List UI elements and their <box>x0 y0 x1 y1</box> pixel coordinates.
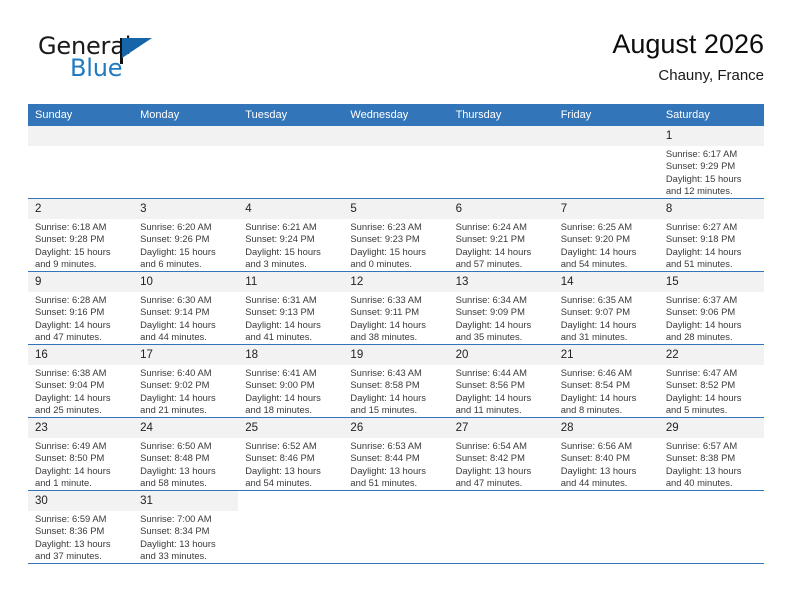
day-number: 26 <box>343 418 448 438</box>
day-number <box>554 126 659 146</box>
daylight-text-line2: and 57 minutes. <box>456 258 549 270</box>
daylight-text-line2: and 15 minutes. <box>350 404 443 416</box>
daylight-text-line2: and 6 minutes. <box>140 258 233 270</box>
day-number: 13 <box>449 272 554 292</box>
sunrise-text: Sunrise: 6:30 AM <box>140 294 233 306</box>
daylight-text-line2: and 41 minutes. <box>245 331 338 343</box>
calendar-cell-empty <box>133 126 238 199</box>
daylight-text-line2: and 0 minutes. <box>350 258 443 270</box>
daylight-text-line2: and 18 minutes. <box>245 404 338 416</box>
calendar-day-cell[interactable]: 20Sunrise: 6:44 AMSunset: 8:56 PMDayligh… <box>449 345 554 418</box>
weekday-header-sunday: Sunday <box>28 104 133 126</box>
page-title: August 2026 <box>612 28 764 60</box>
calendar-day-cell[interactable]: 13Sunrise: 6:34 AMSunset: 9:09 PMDayligh… <box>449 272 554 345</box>
sunrise-text: Sunrise: 6:59 AM <box>35 513 128 525</box>
day-details: Sunrise: 6:24 AMSunset: 9:21 PMDaylight:… <box>449 219 554 270</box>
logo-text-blue: Blue <box>70 54 122 82</box>
day-details: Sunrise: 6:27 AMSunset: 9:18 PMDaylight:… <box>659 219 764 270</box>
sunset-text: Sunset: 8:44 PM <box>350 452 443 464</box>
sunrise-text: Sunrise: 6:25 AM <box>561 221 654 233</box>
sunrise-text: Sunrise: 6:17 AM <box>666 148 759 160</box>
sunrise-text: Sunrise: 6:41 AM <box>245 367 338 379</box>
day-number: 9 <box>28 272 133 292</box>
calendar-cell-empty <box>659 491 764 564</box>
page-header: General Blue August 2026 Chauny, France <box>28 28 764 98</box>
day-number: 3 <box>133 199 238 219</box>
sunrise-text: Sunrise: 6:57 AM <box>666 440 759 452</box>
day-number: 21 <box>554 345 659 365</box>
day-details: Sunrise: 6:54 AMSunset: 8:42 PMDaylight:… <box>449 438 554 489</box>
sunset-text: Sunset: 9:09 PM <box>456 306 549 318</box>
calendar-day-cell[interactable]: 1Sunrise: 6:17 AMSunset: 9:29 PMDaylight… <box>659 126 764 199</box>
weekday-header-monday: Monday <box>133 104 238 126</box>
day-details: Sunrise: 6:38 AMSunset: 9:04 PMDaylight:… <box>28 365 133 416</box>
daylight-text-line1: Daylight: 14 hours <box>561 246 654 258</box>
day-number: 1 <box>659 126 764 146</box>
day-details: Sunrise: 6:31 AMSunset: 9:13 PMDaylight:… <box>238 292 343 343</box>
sunrise-text: Sunrise: 6:54 AM <box>456 440 549 452</box>
calendar-day-cell[interactable]: 14Sunrise: 6:35 AMSunset: 9:07 PMDayligh… <box>554 272 659 345</box>
daylight-text-line1: Daylight: 13 hours <box>140 538 233 550</box>
day-details: Sunrise: 6:43 AMSunset: 8:58 PMDaylight:… <box>343 365 448 416</box>
daylight-text-line1: Daylight: 14 hours <box>35 465 128 477</box>
daylight-text-line2: and 54 minutes. <box>561 258 654 270</box>
day-number: 10 <box>133 272 238 292</box>
calendar-day-cell[interactable]: 19Sunrise: 6:43 AMSunset: 8:58 PMDayligh… <box>343 345 448 418</box>
sunset-text: Sunset: 8:52 PM <box>666 379 759 391</box>
calendar-day-cell[interactable]: 21Sunrise: 6:46 AMSunset: 8:54 PMDayligh… <box>554 345 659 418</box>
daylight-text-line2: and 37 minutes. <box>35 550 128 562</box>
calendar-day-cell[interactable]: 25Sunrise: 6:52 AMSunset: 8:46 PMDayligh… <box>238 418 343 491</box>
daylight-text-line1: Daylight: 15 hours <box>245 246 338 258</box>
daylight-text-line2: and 51 minutes. <box>666 258 759 270</box>
calendar-day-cell[interactable]: 18Sunrise: 6:41 AMSunset: 9:00 PMDayligh… <box>238 345 343 418</box>
calendar-day-cell[interactable]: 4Sunrise: 6:21 AMSunset: 9:24 PMDaylight… <box>238 199 343 272</box>
day-details: Sunrise: 6:33 AMSunset: 9:11 PMDaylight:… <box>343 292 448 343</box>
daylight-text-line2: and 51 minutes. <box>350 477 443 489</box>
daylight-text-line1: Daylight: 15 hours <box>35 246 128 258</box>
sunrise-text: Sunrise: 6:31 AM <box>245 294 338 306</box>
calendar-day-cell[interactable]: 29Sunrise: 6:57 AMSunset: 8:38 PMDayligh… <box>659 418 764 491</box>
calendar-day-cell[interactable]: 30Sunrise: 6:59 AMSunset: 8:36 PMDayligh… <box>28 491 133 564</box>
sunrise-text: Sunrise: 6:40 AM <box>140 367 233 379</box>
sunset-text: Sunset: 8:54 PM <box>561 379 654 391</box>
sunset-text: Sunset: 8:34 PM <box>140 525 233 537</box>
daylight-text-line1: Daylight: 13 hours <box>666 465 759 477</box>
day-details: Sunrise: 6:23 AMSunset: 9:23 PMDaylight:… <box>343 219 448 270</box>
sunset-text: Sunset: 8:58 PM <box>350 379 443 391</box>
daylight-text-line1: Daylight: 14 hours <box>456 392 549 404</box>
day-number: 19 <box>343 345 448 365</box>
weekday-header-friday: Friday <box>554 104 659 126</box>
sunset-text: Sunset: 9:18 PM <box>666 233 759 245</box>
sunrise-text: Sunrise: 6:20 AM <box>140 221 233 233</box>
calendar-day-cell[interactable]: 27Sunrise: 6:54 AMSunset: 8:42 PMDayligh… <box>449 418 554 491</box>
daylight-text-line1: Daylight: 14 hours <box>666 392 759 404</box>
daylight-text-line1: Daylight: 13 hours <box>561 465 654 477</box>
calendar-cell-empty <box>554 126 659 199</box>
day-number: 2 <box>28 199 133 219</box>
daylight-text-line1: Daylight: 14 hours <box>350 319 443 331</box>
calendar-week-row: 16Sunrise: 6:38 AMSunset: 9:04 PMDayligh… <box>28 345 764 418</box>
sunset-text: Sunset: 9:04 PM <box>35 379 128 391</box>
sunrise-text: Sunrise: 6:44 AM <box>456 367 549 379</box>
calendar-day-cell[interactable]: 12Sunrise: 6:33 AMSunset: 9:11 PMDayligh… <box>343 272 448 345</box>
day-number: 27 <box>449 418 554 438</box>
sunset-text: Sunset: 9:21 PM <box>456 233 549 245</box>
sunset-text: Sunset: 8:42 PM <box>456 452 549 464</box>
daylight-text-line2: and 8 minutes. <box>561 404 654 416</box>
sunrise-text: Sunrise: 6:56 AM <box>561 440 654 452</box>
day-details: Sunrise: 6:57 AMSunset: 8:38 PMDaylight:… <box>659 438 764 489</box>
daylight-text-line2: and 9 minutes. <box>35 258 128 270</box>
calendar-day-cell[interactable]: 26Sunrise: 6:53 AMSunset: 8:44 PMDayligh… <box>343 418 448 491</box>
day-number: 6 <box>449 199 554 219</box>
calendar-cell-empty <box>238 491 343 564</box>
calendar-body: 1Sunrise: 6:17 AMSunset: 9:29 PMDaylight… <box>28 126 764 564</box>
daylight-text-line2: and 38 minutes. <box>350 331 443 343</box>
sunset-text: Sunset: 9:28 PM <box>35 233 128 245</box>
sunset-text: Sunset: 9:06 PM <box>666 306 759 318</box>
calendar-cell-empty <box>343 491 448 564</box>
sunrise-text: Sunrise: 6:38 AM <box>35 367 128 379</box>
calendar-day-cell[interactable]: 6Sunrise: 6:24 AMSunset: 9:21 PMDaylight… <box>449 199 554 272</box>
daylight-text-line1: Daylight: 14 hours <box>35 392 128 404</box>
daylight-text-line1: Daylight: 15 hours <box>666 173 759 185</box>
daylight-text-line2: and 12 minutes. <box>666 185 759 197</box>
daylight-text-line2: and 28 minutes. <box>666 331 759 343</box>
sunset-text: Sunset: 9:29 PM <box>666 160 759 172</box>
daylight-text-line2: and 11 minutes. <box>456 404 549 416</box>
calendar-header-row: Sunday Monday Tuesday Wednesday Thursday… <box>28 104 764 126</box>
daylight-text-line2: and 54 minutes. <box>245 477 338 489</box>
day-number: 14 <box>554 272 659 292</box>
daylight-text-line2: and 44 minutes. <box>140 331 233 343</box>
sunrise-text: Sunrise: 6:47 AM <box>666 367 759 379</box>
sunrise-text: Sunrise: 6:24 AM <box>456 221 549 233</box>
day-number: 30 <box>28 491 133 511</box>
weekday-header-wednesday: Wednesday <box>343 104 448 126</box>
calendar-day-cell[interactable]: 8Sunrise: 6:27 AMSunset: 9:18 PMDaylight… <box>659 199 764 272</box>
sunrise-text: Sunrise: 6:34 AM <box>456 294 549 306</box>
day-details: Sunrise: 6:34 AMSunset: 9:09 PMDaylight:… <box>449 292 554 343</box>
day-number: 31 <box>133 491 238 511</box>
day-number: 17 <box>133 345 238 365</box>
sunrise-text: Sunrise: 6:53 AM <box>350 440 443 452</box>
sunrise-text: Sunrise: 6:50 AM <box>140 440 233 452</box>
calendar-week-row: 1Sunrise: 6:17 AMSunset: 9:29 PMDaylight… <box>28 126 764 199</box>
daylight-text-line2: and 35 minutes. <box>456 331 549 343</box>
calendar-page: General Blue August 2026 Chauny, France … <box>0 0 792 612</box>
daylight-text-line1: Daylight: 14 hours <box>35 319 128 331</box>
sunrise-text: Sunrise: 6:43 AM <box>350 367 443 379</box>
calendar-day-cell[interactable]: 24Sunrise: 6:50 AMSunset: 8:48 PMDayligh… <box>133 418 238 491</box>
day-number <box>343 126 448 146</box>
daylight-text-line2: and 5 minutes. <box>666 404 759 416</box>
daylight-text-line1: Daylight: 14 hours <box>140 319 233 331</box>
sunset-text: Sunset: 9:13 PM <box>245 306 338 318</box>
day-number <box>449 126 554 146</box>
day-number: 4 <box>238 199 343 219</box>
daylight-text-line2: and 31 minutes. <box>561 331 654 343</box>
weekday-header-tuesday: Tuesday <box>238 104 343 126</box>
day-details: Sunrise: 6:59 AMSunset: 8:36 PMDaylight:… <box>28 511 133 562</box>
calendar-cell-empty <box>28 126 133 199</box>
daylight-text-line2: and 47 minutes. <box>456 477 549 489</box>
sunset-text: Sunset: 9:14 PM <box>140 306 233 318</box>
sunset-text: Sunset: 8:36 PM <box>35 525 128 537</box>
sunset-text: Sunset: 9:26 PM <box>140 233 233 245</box>
daylight-text-line1: Daylight: 13 hours <box>140 465 233 477</box>
day-number: 15 <box>659 272 764 292</box>
daylight-text-line2: and 58 minutes. <box>140 477 233 489</box>
title-block: August 2026 Chauny, France <box>612 28 764 86</box>
sunrise-text: Sunrise: 6:37 AM <box>666 294 759 306</box>
daylight-text-line2: and 47 minutes. <box>35 331 128 343</box>
day-number: 28 <box>554 418 659 438</box>
logo-flag-icon <box>122 38 152 58</box>
day-details: Sunrise: 7:00 AMSunset: 8:34 PMDaylight:… <box>133 511 238 562</box>
day-number: 22 <box>659 345 764 365</box>
daylight-text-line1: Daylight: 13 hours <box>245 465 338 477</box>
daylight-text-line1: Daylight: 13 hours <box>350 465 443 477</box>
day-number: 29 <box>659 418 764 438</box>
daylight-text-line1: Daylight: 13 hours <box>35 538 128 550</box>
calendar-day-cell[interactable]: 22Sunrise: 6:47 AMSunset: 8:52 PMDayligh… <box>659 345 764 418</box>
daylight-text-line2: and 3 minutes. <box>245 258 338 270</box>
daylight-text-line1: Daylight: 14 hours <box>456 319 549 331</box>
day-details: Sunrise: 6:25 AMSunset: 9:20 PMDaylight:… <box>554 219 659 270</box>
calendar-grid-wrapper: Sunday Monday Tuesday Wednesday Thursday… <box>28 104 764 564</box>
page-subtitle-location: Chauny, France <box>612 66 764 86</box>
sunrise-text: Sunrise: 6:46 AM <box>561 367 654 379</box>
calendar-day-cell[interactable]: 15Sunrise: 6:37 AMSunset: 9:06 PMDayligh… <box>659 272 764 345</box>
sunset-text: Sunset: 8:48 PM <box>140 452 233 464</box>
daylight-text-line2: and 44 minutes. <box>561 477 654 489</box>
day-number <box>28 126 133 146</box>
daylight-text-line2: and 1 minute. <box>35 477 128 489</box>
day-details: Sunrise: 6:37 AMSunset: 9:06 PMDaylight:… <box>659 292 764 343</box>
day-number: 5 <box>343 199 448 219</box>
day-details: Sunrise: 6:47 AMSunset: 8:52 PMDaylight:… <box>659 365 764 416</box>
calendar-cell-empty <box>449 491 554 564</box>
sunrise-text: Sunrise: 6:23 AM <box>350 221 443 233</box>
calendar-day-cell[interactable]: 3Sunrise: 6:20 AMSunset: 9:26 PMDaylight… <box>133 199 238 272</box>
sunrise-text: Sunrise: 7:00 AM <box>140 513 233 525</box>
calendar-day-cell[interactable]: 28Sunrise: 6:56 AMSunset: 8:40 PMDayligh… <box>554 418 659 491</box>
day-number: 24 <box>133 418 238 438</box>
sunrise-text: Sunrise: 6:35 AM <box>561 294 654 306</box>
weekday-header-thursday: Thursday <box>449 104 554 126</box>
day-details: Sunrise: 6:18 AMSunset: 9:28 PMDaylight:… <box>28 219 133 270</box>
day-details: Sunrise: 6:20 AMSunset: 9:26 PMDaylight:… <box>133 219 238 270</box>
daylight-text-line1: Daylight: 15 hours <box>140 246 233 258</box>
calendar-week-row: 23Sunrise: 6:49 AMSunset: 8:50 PMDayligh… <box>28 418 764 491</box>
calendar-week-row: 9Sunrise: 6:28 AMSunset: 9:16 PMDaylight… <box>28 272 764 345</box>
sunset-text: Sunset: 9:11 PM <box>350 306 443 318</box>
daylight-text-line2: and 25 minutes. <box>35 404 128 416</box>
daylight-text-line2: and 33 minutes. <box>140 550 233 562</box>
daylight-text-line1: Daylight: 14 hours <box>666 319 759 331</box>
calendar-day-cell[interactable]: 31Sunrise: 7:00 AMSunset: 8:34 PMDayligh… <box>133 491 238 564</box>
calendar-cell-empty <box>343 126 448 199</box>
calendar-day-cell[interactable]: 5Sunrise: 6:23 AMSunset: 9:23 PMDaylight… <box>343 199 448 272</box>
sunrise-text: Sunrise: 6:33 AM <box>350 294 443 306</box>
day-details: Sunrise: 6:53 AMSunset: 8:44 PMDaylight:… <box>343 438 448 489</box>
day-details: Sunrise: 6:35 AMSunset: 9:07 PMDaylight:… <box>554 292 659 343</box>
calendar-day-cell[interactable]: 7Sunrise: 6:25 AMSunset: 9:20 PMDaylight… <box>554 199 659 272</box>
sunrise-text: Sunrise: 6:28 AM <box>35 294 128 306</box>
sunset-text: Sunset: 8:40 PM <box>561 452 654 464</box>
calendar-table: Sunday Monday Tuesday Wednesday Thursday… <box>28 104 764 564</box>
day-number: 8 <box>659 199 764 219</box>
day-number: 12 <box>343 272 448 292</box>
calendar-day-cell[interactable]: 9Sunrise: 6:28 AMSunset: 9:16 PMDaylight… <box>28 272 133 345</box>
sunset-text: Sunset: 9:20 PM <box>561 233 654 245</box>
sunrise-text: Sunrise: 6:21 AM <box>245 221 338 233</box>
day-number: 23 <box>28 418 133 438</box>
day-details: Sunrise: 6:40 AMSunset: 9:02 PMDaylight:… <box>133 365 238 416</box>
daylight-text-line1: Daylight: 14 hours <box>350 392 443 404</box>
calendar-day-cell[interactable]: 2Sunrise: 6:18 AMSunset: 9:28 PMDaylight… <box>28 199 133 272</box>
daylight-text-line1: Daylight: 13 hours <box>456 465 549 477</box>
sunrise-text: Sunrise: 6:27 AM <box>666 221 759 233</box>
sunset-text: Sunset: 8:56 PM <box>456 379 549 391</box>
calendar-cell-empty <box>449 126 554 199</box>
daylight-text-line1: Daylight: 14 hours <box>456 246 549 258</box>
day-number: 11 <box>238 272 343 292</box>
general-blue-logo[interactable]: General Blue <box>38 32 258 92</box>
day-details: Sunrise: 6:46 AMSunset: 8:54 PMDaylight:… <box>554 365 659 416</box>
calendar-week-row: 30Sunrise: 6:59 AMSunset: 8:36 PMDayligh… <box>28 491 764 564</box>
day-details: Sunrise: 6:41 AMSunset: 9:00 PMDaylight:… <box>238 365 343 416</box>
day-details: Sunrise: 6:21 AMSunset: 9:24 PMDaylight:… <box>238 219 343 270</box>
daylight-text-line1: Daylight: 14 hours <box>561 392 654 404</box>
sunrise-text: Sunrise: 6:49 AM <box>35 440 128 452</box>
calendar-day-cell[interactable]: 10Sunrise: 6:30 AMSunset: 9:14 PMDayligh… <box>133 272 238 345</box>
day-details: Sunrise: 6:49 AMSunset: 8:50 PMDaylight:… <box>28 438 133 489</box>
calendar-day-cell[interactable]: 16Sunrise: 6:38 AMSunset: 9:04 PMDayligh… <box>28 345 133 418</box>
calendar-cell-empty <box>554 491 659 564</box>
day-number <box>133 126 238 146</box>
sunset-text: Sunset: 9:07 PM <box>561 306 654 318</box>
daylight-text-line1: Daylight: 14 hours <box>140 392 233 404</box>
sunset-text: Sunset: 9:24 PM <box>245 233 338 245</box>
daylight-text-line1: Daylight: 14 hours <box>666 246 759 258</box>
day-details: Sunrise: 6:44 AMSunset: 8:56 PMDaylight:… <box>449 365 554 416</box>
day-number: 18 <box>238 345 343 365</box>
calendar-day-cell[interactable]: 11Sunrise: 6:31 AMSunset: 9:13 PMDayligh… <box>238 272 343 345</box>
daylight-text-line1: Daylight: 15 hours <box>350 246 443 258</box>
day-details: Sunrise: 6:56 AMSunset: 8:40 PMDaylight:… <box>554 438 659 489</box>
sunset-text: Sunset: 9:00 PM <box>245 379 338 391</box>
daylight-text-line2: and 21 minutes. <box>140 404 233 416</box>
sunrise-text: Sunrise: 6:18 AM <box>35 221 128 233</box>
day-number: 20 <box>449 345 554 365</box>
day-number: 25 <box>238 418 343 438</box>
day-number: 7 <box>554 199 659 219</box>
calendar-day-cell[interactable]: 23Sunrise: 6:49 AMSunset: 8:50 PMDayligh… <box>28 418 133 491</box>
daylight-text-line1: Daylight: 14 hours <box>561 319 654 331</box>
day-details: Sunrise: 6:28 AMSunset: 9:16 PMDaylight:… <box>28 292 133 343</box>
daylight-text-line2: and 40 minutes. <box>666 477 759 489</box>
day-details: Sunrise: 6:50 AMSunset: 8:48 PMDaylight:… <box>133 438 238 489</box>
calendar-day-cell[interactable]: 17Sunrise: 6:40 AMSunset: 9:02 PMDayligh… <box>133 345 238 418</box>
daylight-text-line1: Daylight: 14 hours <box>245 392 338 404</box>
weekday-header-saturday: Saturday <box>659 104 764 126</box>
calendar-cell-empty <box>238 126 343 199</box>
sunset-text: Sunset: 9:16 PM <box>35 306 128 318</box>
day-number <box>238 126 343 146</box>
day-details: Sunrise: 6:52 AMSunset: 8:46 PMDaylight:… <box>238 438 343 489</box>
sunset-text: Sunset: 9:02 PM <box>140 379 233 391</box>
sunrise-text: Sunrise: 6:52 AM <box>245 440 338 452</box>
sunset-text: Sunset: 8:50 PM <box>35 452 128 464</box>
daylight-text-line1: Daylight: 14 hours <box>245 319 338 331</box>
sunset-text: Sunset: 9:23 PM <box>350 233 443 245</box>
calendar-week-row: 2Sunrise: 6:18 AMSunset: 9:28 PMDaylight… <box>28 199 764 272</box>
sunset-text: Sunset: 8:46 PM <box>245 452 338 464</box>
day-number: 16 <box>28 345 133 365</box>
sunset-text: Sunset: 8:38 PM <box>666 452 759 464</box>
day-details: Sunrise: 6:17 AMSunset: 9:29 PMDaylight:… <box>659 146 764 197</box>
day-details: Sunrise: 6:30 AMSunset: 9:14 PMDaylight:… <box>133 292 238 343</box>
